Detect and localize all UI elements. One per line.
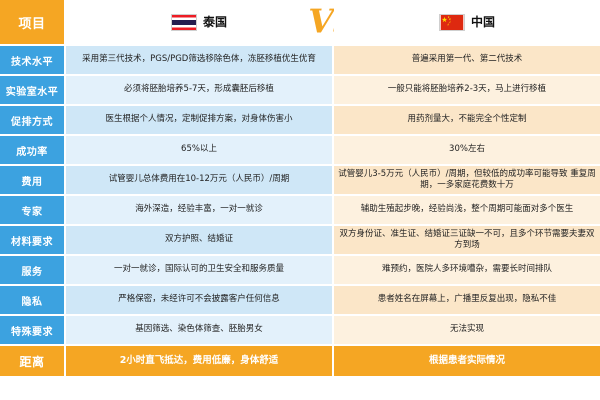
table-row: 技术水平 采用第三代技术，PGS/PGD筛选移除色体，冻胚移植优生优育 普遍采用… [0, 46, 600, 76]
row-left-value: 海外深造，经验丰富，一对一就诊 [66, 196, 334, 224]
comparison-table: 项目 泰国 VS [0, 0, 600, 400]
table-row: 费用 试管婴儿总体费用在10-12万元（人民币）/周期 试管婴儿3-5万元（人民… [0, 166, 600, 196]
left-country-label: 泰国 [203, 14, 227, 30]
row-right-value: 无法实现 [334, 316, 600, 344]
footer-right-value: 根据患者实际情况 [334, 346, 600, 376]
table-row: 专家 海外深造，经验丰富，一对一就诊 辅助生殖起步晚，经验尚浅，整个周期可能面对… [0, 196, 600, 226]
row-label: 特殊要求 [0, 316, 66, 344]
table-row: 特殊要求 基因筛选、染色体筛查、胚胎男女 无法实现 [0, 316, 600, 346]
row-left-value: 双方护照、结婚证 [66, 226, 334, 254]
table-row: 实验室水平 必须将胚胎培养5-7天，形成囊胚后移植 一般只能将胚胎培养2-3天，… [0, 76, 600, 106]
table-row: 服务 一对一就诊，国际认可的卫生安全和服务质量 难预约，医院人多环境嘈杂，需要长… [0, 256, 600, 286]
row-left-value: 试管婴儿总体费用在10-12万元（人民币）/周期 [66, 166, 334, 194]
row-right-value: 用药剂量大，不能完全个性定制 [334, 106, 600, 134]
row-left-value: 严格保密，未经许可不会披露客户任何信息 [66, 286, 334, 314]
row-label: 服务 [0, 256, 66, 284]
table-header-row: 项目 泰国 VS [0, 0, 600, 46]
row-right-value: 辅助生殖起步晚，经验尚浅，整个周期可能面对多个医生 [334, 196, 600, 224]
row-label: 促排方式 [0, 106, 66, 134]
table-row: 促排方式 医生根据个人情况，定制促排方案，对身体伤害小 用药剂量大，不能完全个性… [0, 106, 600, 136]
row-left-value: 基因筛选、染色体筛查、胚胎男女 [66, 316, 334, 344]
china-flag-icon [439, 14, 465, 31]
row-right-value: 30%左右 [334, 136, 600, 164]
row-left-value: 医生根据个人情况，定制促排方案，对身体伤害小 [66, 106, 334, 134]
row-right-value: 试管婴儿3-5万元（人民币）/周期，但较低的成功率可能导致 重复周期，一多家庭花… [334, 166, 600, 194]
row-right-value: 患者姓名在屏幕上，广播里反复出现，隐私不佳 [334, 286, 600, 314]
table-row: 隐私 严格保密，未经许可不会披露客户任何信息 患者姓名在屏幕上，广播里反复出现，… [0, 286, 600, 316]
header-right-country-cell: 中国 [334, 0, 600, 44]
row-label: 实验室水平 [0, 76, 66, 104]
header-label-cell: 项目 [0, 0, 66, 44]
row-left-value: 采用第三代技术，PGS/PGD筛选移除色体，冻胚移植优生优育 [66, 46, 334, 74]
right-country-label: 中国 [471, 14, 495, 30]
row-label: 技术水平 [0, 46, 66, 74]
row-right-value: 一般只能将胚胎培养2-3天，马上进行移植 [334, 76, 600, 104]
row-label: 隐私 [0, 286, 66, 314]
row-right-value: 普遍采用第一代、第二代技术 [334, 46, 600, 74]
footer-left-value: 2小时直飞抵达，费用低廉，身体舒适 [66, 346, 334, 376]
header-left-country-cell: 泰国 VS [66, 0, 334, 44]
row-left-value: 必须将胚胎培养5-7天，形成囊胚后移植 [66, 76, 334, 104]
row-label: 材料要求 [0, 226, 66, 254]
footer-label: 距离 [0, 346, 66, 376]
table-row: 材料要求 双方护照、结婚证 双方身份证、准生证、结婚证三证缺一不可，且多个环节需… [0, 226, 600, 256]
row-label: 费用 [0, 166, 66, 194]
row-label: 专家 [0, 196, 66, 224]
row-left-value: 65%以上 [66, 136, 334, 164]
row-right-value: 难预约，医院人多环境嘈杂，需要长时间排队 [334, 256, 600, 284]
table-footer-row: 距离 2小时直飞抵达，费用低廉，身体舒适 根据患者实际情况 [0, 346, 600, 376]
thailand-flag-icon [171, 14, 197, 31]
row-right-value: 双方身份证、准生证、结婚证三证缺一不可，且多个环节需要夫妻双方到场 [334, 226, 600, 254]
row-label: 成功率 [0, 136, 66, 164]
row-left-value: 一对一就诊，国际认可的卫生安全和服务质量 [66, 256, 334, 284]
table-row: 成功率 65%以上 30%左右 [0, 136, 600, 166]
